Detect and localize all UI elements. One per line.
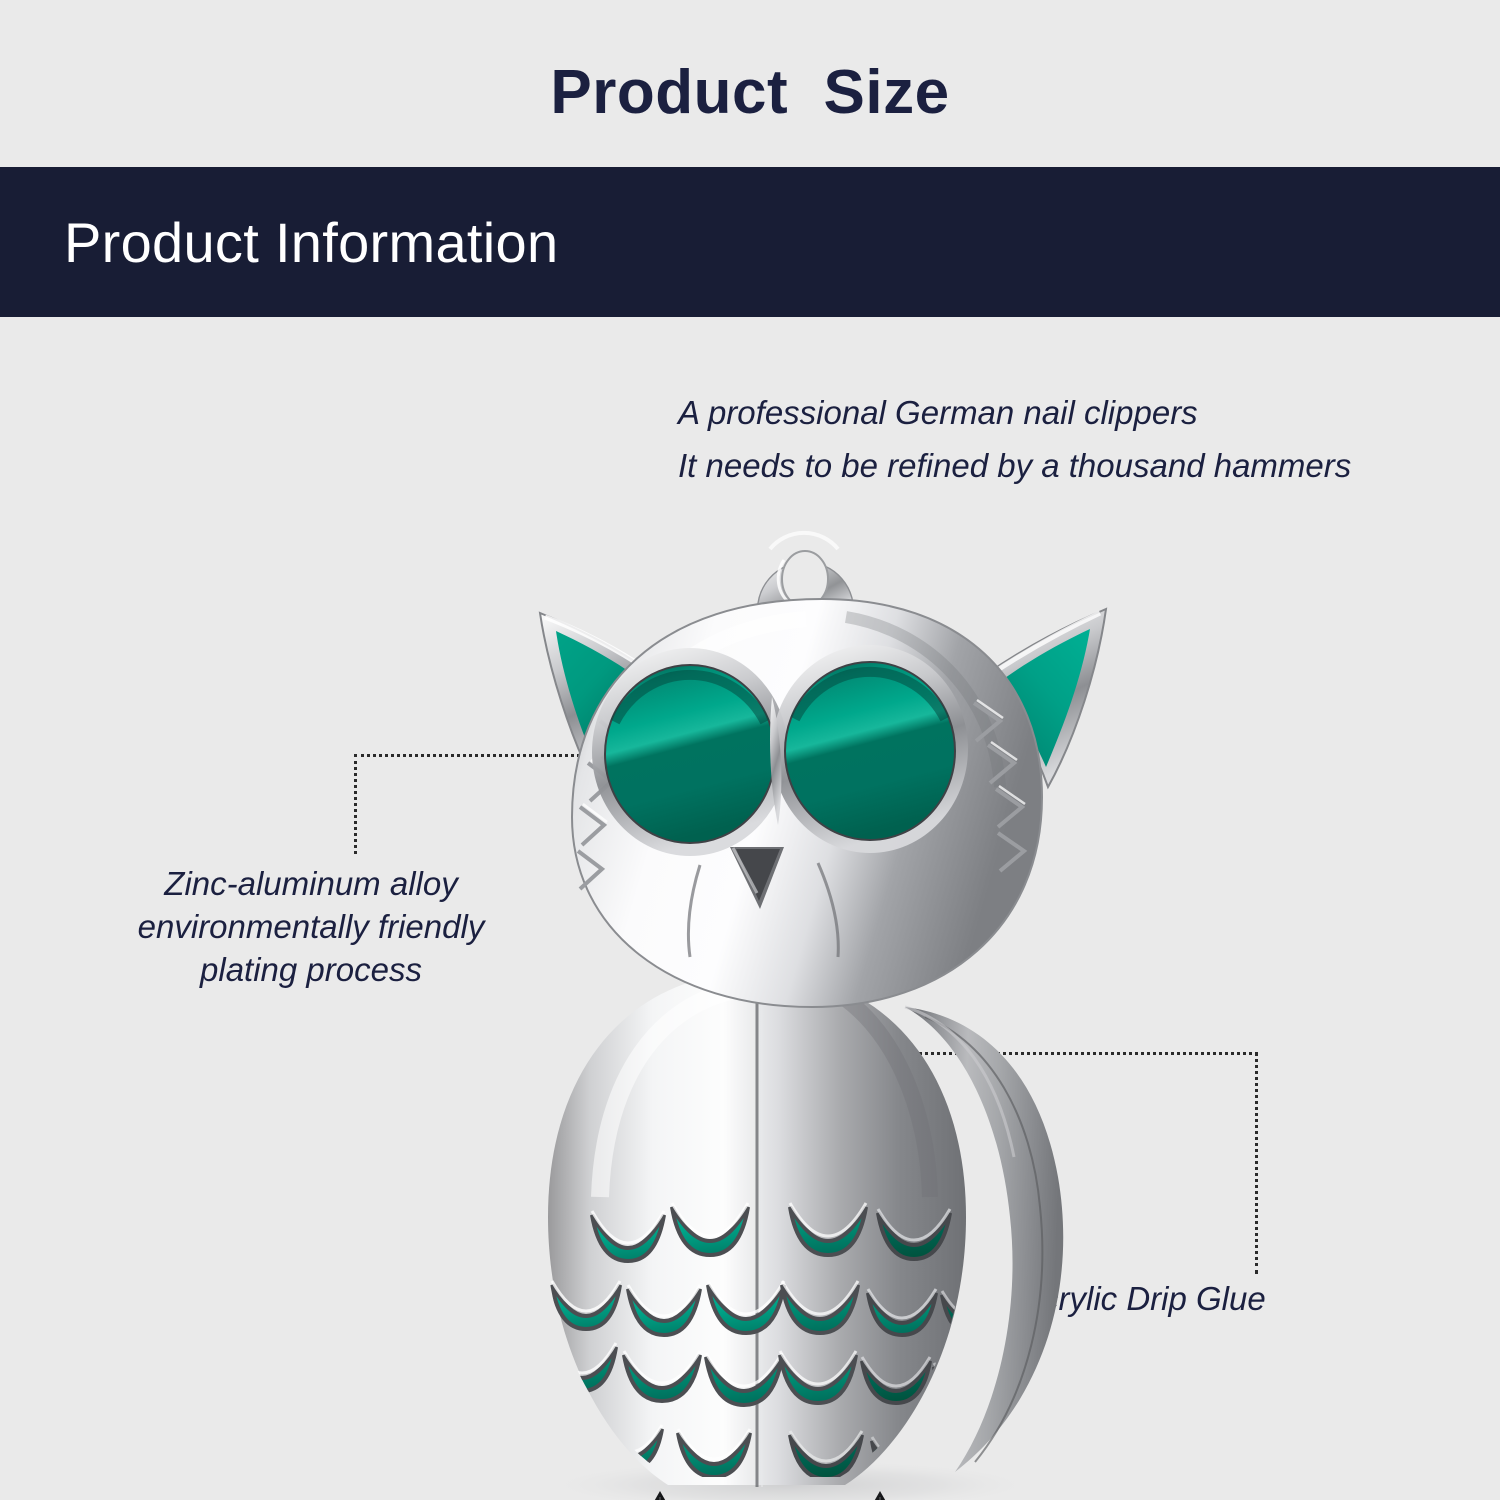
owl-eye-left [605, 665, 775, 843]
content-area: A professional German nail clippers It n… [0, 317, 1500, 1500]
owl-head-dome [572, 599, 1042, 1007]
leader-line-finish-horizontal [878, 1052, 1258, 1055]
brow-serration-right [974, 703, 1024, 871]
owl-ear-right [988, 609, 1106, 787]
feather-pattern [548, 1203, 1006, 1500]
feather-row-3 [548, 1343, 994, 1405]
brow-serration-left [578, 721, 622, 889]
feather-row-4 [598, 1425, 932, 1479]
feather-row-1 [592, 1203, 950, 1261]
callout-finish-line-1: Acrylic Drip Glue [1020, 1277, 1266, 1320]
title-zone: Product Size [0, 0, 1500, 167]
product-shadow [540, 1459, 1040, 1500]
section-header-band: Product Information [0, 167, 1500, 317]
leader-line-material-vertical [354, 754, 357, 854]
leader-line-finish-vertical [1255, 1052, 1258, 1274]
leader-line-material-horizontal [354, 754, 622, 757]
owl-eye-socket-right [772, 645, 968, 853]
headline-line-1: A professional German nail clippers [678, 386, 1351, 439]
eye-bridge [770, 697, 781, 825]
callout-material-line-1: Zinc-aluminum alloy [96, 862, 526, 905]
owl-head [540, 599, 1106, 1007]
owl-beak-icon [730, 847, 784, 909]
owl-body [548, 972, 966, 1487]
product-headline: A professional German nail clippers It n… [678, 386, 1351, 492]
clipper-lever-right [860, 1491, 924, 1500]
owl-eye-socket-left [592, 648, 788, 856]
owl-side-panel [905, 1007, 1063, 1472]
callout-material: Zinc-aluminum alloy environmentally frie… [96, 862, 526, 991]
page-title: Product Size [0, 57, 1500, 128]
hanging-ring-icon [758, 533, 854, 647]
callout-finish: Acrylic Drip Glue [1020, 1277, 1266, 1320]
feather-row-2 [552, 1281, 1006, 1335]
section-title: Product Information [64, 210, 558, 275]
headline-line-2: It needs to be refined by a thousand ham… [678, 439, 1351, 492]
clipper-lever-left [640, 1491, 702, 1500]
owl-eye-right [785, 662, 955, 840]
owl-ear-left [540, 613, 652, 787]
callout-material-line-3: plating process [96, 948, 526, 991]
callout-material-line-2: environmentally friendly [96, 905, 526, 948]
